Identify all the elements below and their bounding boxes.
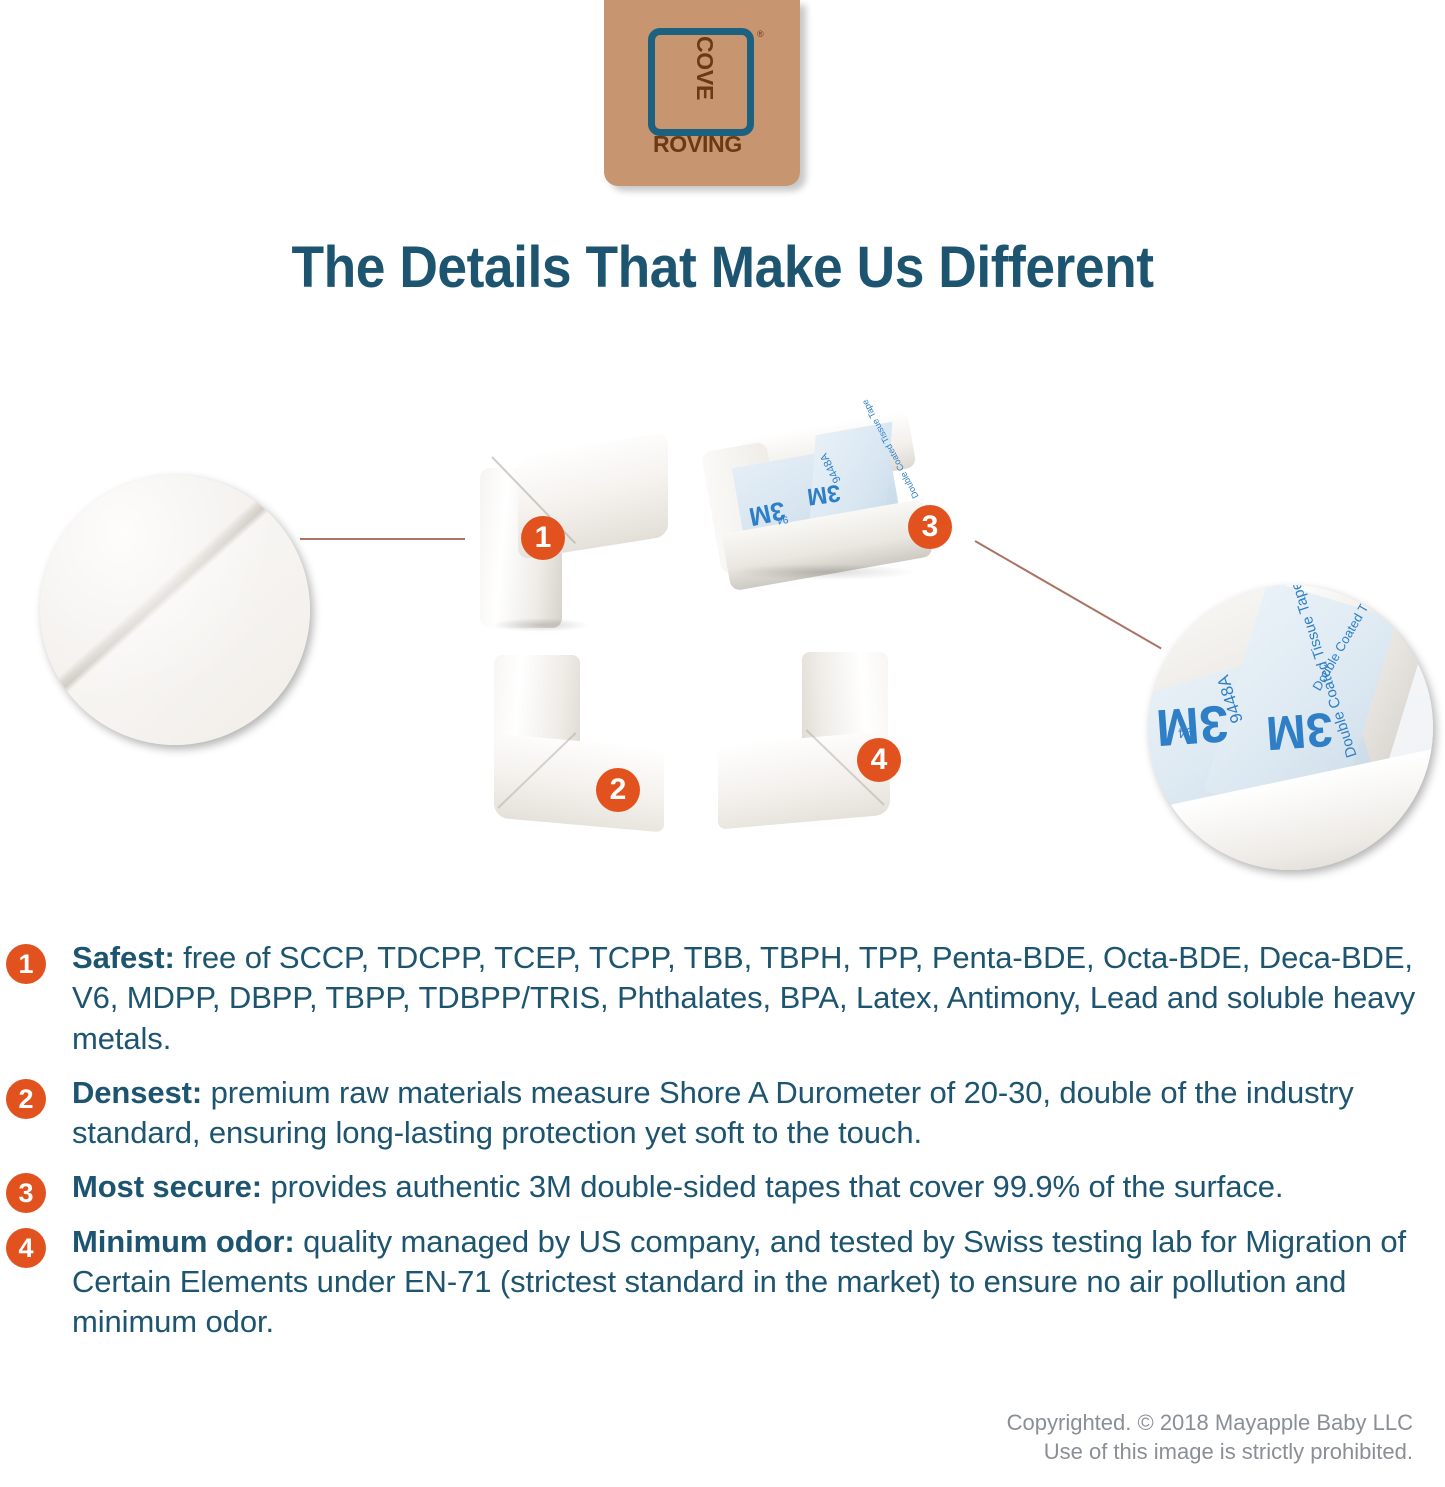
photo-badge-4: 4 — [857, 738, 901, 782]
feature-body-1: free of SCCP, TDCPP, TCEP, TCPP, TBB, TB… — [72, 940, 1415, 1056]
logo-word-cove: COVE — [693, 36, 716, 100]
copyright-notice: Copyrighted. © 2018 Mayapple Baby LLC Us… — [1007, 1408, 1413, 1467]
feature-badge-3: 3 — [6, 1173, 46, 1213]
feature-item-3: 3 Most secure: provides authentic 3M dou… — [0, 1167, 1445, 1207]
guard-drop-shadow — [490, 618, 590, 632]
feature-badge-4: 4 — [6, 1228, 46, 1268]
logo-word-roving: ROVING — [653, 133, 742, 156]
magnifier-tape-closeup: 3M 3M 9448A Double Coated Tissue Tape 94… — [1148, 585, 1433, 870]
feature-body-3: provides authentic 3M double-sided tapes… — [262, 1169, 1283, 1204]
logo-tile: ROVING COVE ® — [604, 0, 800, 186]
photo-badge-3: 3 — [908, 505, 952, 549]
feature-label-3: Most secure: — [72, 1169, 262, 1204]
product-photo-2 — [478, 655, 688, 840]
feature-text-3: Most secure: provides authentic 3M doubl… — [72, 1167, 1445, 1207]
registered-trademark-icon: ® — [757, 29, 764, 39]
page-title: The Details That Make Us Different — [58, 234, 1387, 301]
feature-item-1: 1 Safest: free of SCCP, TDCPP, TCEP, TCP… — [0, 938, 1445, 1059]
guard-drop-shadow — [735, 564, 915, 580]
feature-label-2: Densest: — [72, 1075, 202, 1110]
feature-item-4: 4 Minimum odor: quality managed by US co… — [0, 1222, 1445, 1343]
feature-text-1: Safest: free of SCCP, TDCPP, TCEP, TCPP,… — [72, 938, 1445, 1059]
copyright-line-1: Copyrighted. © 2018 Mayapple Baby LLC — [1007, 1408, 1413, 1438]
product-visual-area: 3M 3M 9448A Double Coated Tissue Tape 94… — [0, 400, 1445, 900]
photo-badge-2: 2 — [596, 768, 640, 812]
feature-list: 1 Safest: free of SCCP, TDCPP, TCEP, TCP… — [0, 938, 1445, 1357]
feature-text-2: Densest: premium raw materials measure S… — [72, 1073, 1445, 1154]
product-photo-1 — [470, 430, 680, 630]
feature-label-1: Safest: — [72, 940, 175, 975]
brand-logo: ROVING COVE ® — [604, 0, 812, 188]
foam-highlight — [40, 475, 310, 745]
photo-badge-1: 1 — [521, 516, 565, 560]
product-photo-3: 3M 3M 9448A Double Coated Tissue Tape 94 — [715, 418, 955, 588]
connector-line-right — [975, 540, 1162, 649]
connector-line-left — [300, 538, 465, 540]
feature-body-2: premium raw materials measure Shore A Du… — [72, 1075, 1354, 1150]
guard-body: 3M 3M 9448A Double Coated Tissue Tape 94 — [715, 428, 927, 574]
copyright-line-2: Use of this image is strictly prohibited… — [1007, 1437, 1413, 1467]
feature-badge-2: 2 — [6, 1079, 46, 1119]
feature-badge-1: 1 — [6, 944, 46, 984]
feature-label-4: Minimum odor: — [72, 1224, 295, 1259]
feature-item-2: 2 Densest: premium raw materials measure… — [0, 1073, 1445, 1154]
magnifier-foam-closeup — [40, 475, 310, 745]
feature-text-4: Minimum odor: quality managed by US comp… — [72, 1222, 1445, 1343]
